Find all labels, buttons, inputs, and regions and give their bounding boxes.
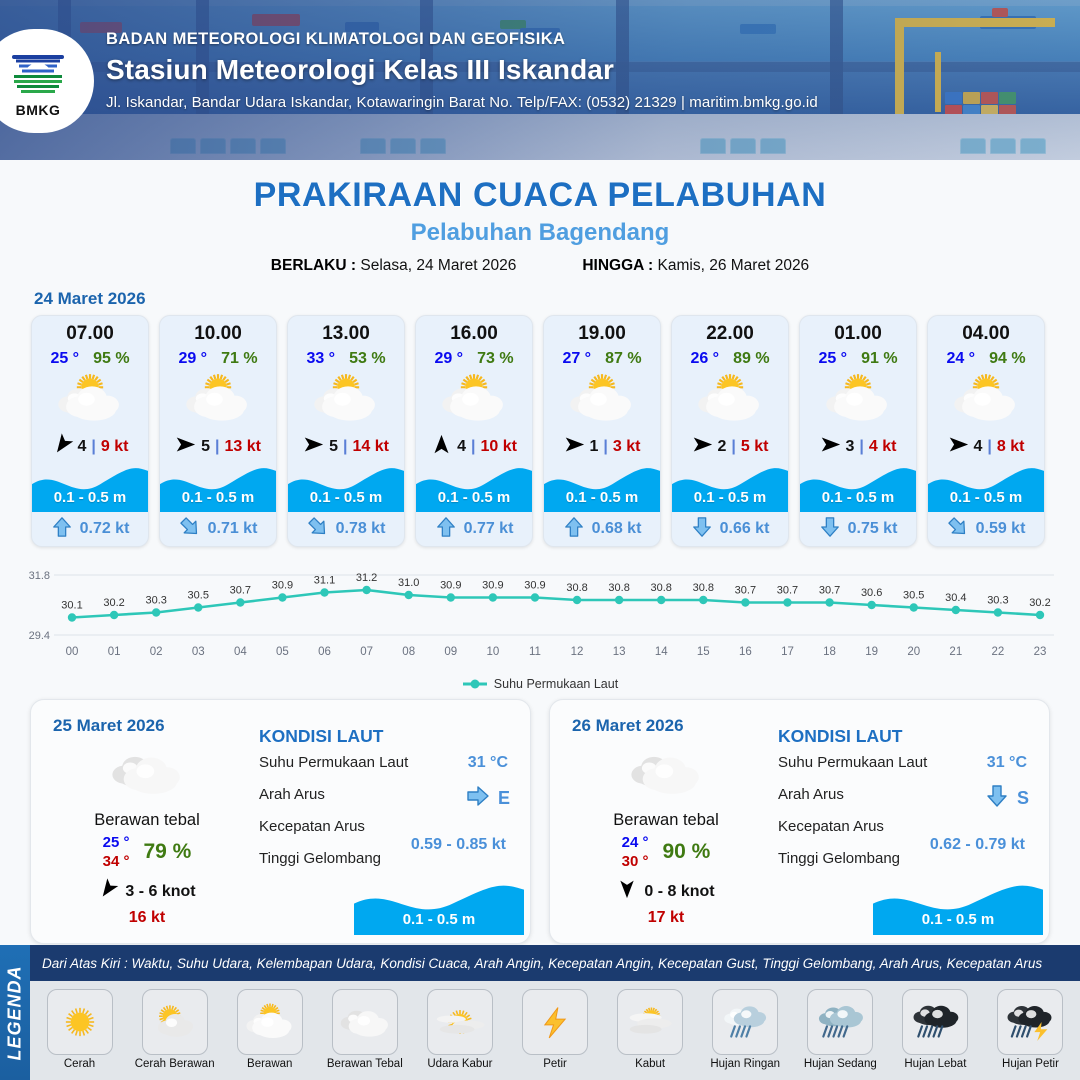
svg-text:30.6: 30.6 [861, 587, 882, 599]
card-separator: | [343, 438, 347, 456]
card-wave-block: 0.1 - 0.5 m [160, 464, 276, 512]
svg-text:00: 00 [66, 646, 79, 658]
card-wind-dir-value: 3 [846, 438, 855, 456]
hujan-petir-icon [997, 989, 1063, 1055]
wind-direction-arrow-icon [948, 434, 969, 460]
hujan-sedang-icon [807, 989, 873, 1055]
card-current-row: 0.75 kt [800, 512, 916, 546]
card-wave-height: 0.1 - 0.5 m [32, 489, 148, 506]
svg-text:05: 05 [276, 646, 289, 658]
card-wind-speed: 3 kt [613, 438, 641, 456]
panel-temp-max: 30 ° [622, 853, 649, 870]
panel-current-dir-label: Arah Arus [778, 786, 844, 803]
panel-sea-title: KONDISI LAUT [259, 726, 518, 747]
card-temperature: 25 ° [818, 350, 847, 368]
berawan-icon [416, 368, 532, 430]
panel-wave-graphic: 0.1 - 0.5 m [354, 881, 524, 935]
legend-item-label: Cerah [34, 1058, 125, 1070]
panel-temp-min: 25 ° [103, 834, 130, 851]
svg-text:29.4: 29.4 [29, 630, 50, 642]
card-wind-row: 4 | 10 kt [416, 430, 532, 464]
card-temperature: 33 ° [306, 350, 335, 368]
wind-direction-arrow-icon [564, 434, 585, 460]
card-wave-block: 0.1 - 0.5 m [288, 464, 404, 512]
card-temp-hum: 33 ° 53 % [288, 350, 404, 368]
svg-text:13: 13 [613, 646, 626, 658]
svg-text:30.9: 30.9 [482, 580, 503, 592]
svg-text:30.2: 30.2 [103, 597, 124, 609]
card-wave-block: 0.1 - 0.5 m [544, 464, 660, 512]
card-current-row: 0.72 kt [32, 512, 148, 546]
panel-temps: 24 ° 30 ° 90 % [566, 834, 766, 870]
panel-wave-value: 0.1 - 0.5 m [354, 911, 524, 928]
station-address: Jl. Iskandar, Bandar Udara Iskandar, Kot… [106, 94, 818, 111]
card-wind-dir-value: 4 [974, 438, 983, 456]
panel-sea-block: KONDISI LAUT Suhu Permukaan Laut 31 °C A… [778, 726, 1037, 882]
legend-item: Cerah Berawan [129, 989, 220, 1070]
berawan-tebal-icon [332, 989, 398, 1055]
svg-text:19: 19 [865, 646, 878, 658]
card-wave-height: 0.1 - 0.5 m [288, 489, 404, 506]
forecast-card: 01.00 25 ° 91 % 3 | 4 kt 0.1 - 0.5 m 0.7… [799, 315, 917, 547]
card-wave-height: 0.1 - 0.5 m [416, 489, 532, 506]
header-text-block: BADAN METEOROLOGI KLIMATOLOGI DAN GEOFIS… [106, 30, 818, 111]
panel-temp-col: 24 ° 30 ° [622, 834, 649, 870]
card-time: 04.00 [928, 316, 1044, 345]
panel-wave-label: Tinggi Gelombang [259, 850, 381, 867]
daily-summary-row: 25 Maret 2026 Berawan tebal 25 ° 34 ° 79… [0, 691, 1080, 944]
validity-row: BERLAKU : Selasa, 24 Maret 2026 HINGGA :… [0, 257, 1080, 275]
card-wind-dir-value: 5 [201, 438, 210, 456]
legend-side-label: LEGENDA [5, 965, 26, 1060]
wind-direction-arrow-icon [303, 434, 324, 460]
card-current-speed: 0.71 kt [208, 520, 258, 538]
berawan-tebal-icon [566, 744, 766, 807]
card-time: 19.00 [544, 316, 660, 345]
card-wind-row: 5 | 14 kt [288, 430, 404, 464]
agency-name: BADAN METEOROLOGI KLIMATOLOGI DAN GEOFIS… [106, 30, 818, 49]
card-wave-height: 0.1 - 0.5 m [928, 489, 1044, 506]
card-separator: | [987, 438, 991, 456]
svg-text:30.2: 30.2 [1029, 597, 1050, 609]
card-current-speed: 0.78 kt [336, 520, 386, 538]
card-current-row: 0.66 kt [672, 512, 788, 546]
panel-wave-row: Tinggi Gelombang [259, 850, 518, 882]
card-wind-row: 3 | 4 kt [800, 430, 916, 464]
card-separator: | [731, 438, 735, 456]
svg-text:18: 18 [823, 646, 836, 658]
card-humidity: 95 % [93, 350, 129, 368]
panel-current-dir-group: S [985, 784, 1029, 813]
legend-item: Berawan [224, 989, 315, 1070]
legend-item: Petir [509, 989, 600, 1070]
card-wind-dir-value: 4 [78, 438, 87, 456]
legend-item-label: Hujan Ringan [700, 1058, 791, 1070]
card-current-row: 0.78 kt [288, 512, 404, 546]
legend-side-tab: LEGENDA [0, 945, 30, 1080]
svg-text:09: 09 [444, 646, 457, 658]
panel-current-dir-row: Arah Arus E [259, 786, 518, 818]
station-name: Stasiun Meteorologi Kelas III Iskandar [106, 54, 818, 86]
svg-text:30.3: 30.3 [145, 595, 166, 607]
card-wind-speed: 14 kt [352, 438, 388, 456]
card-wind-speed: 9 kt [101, 438, 129, 456]
card-current-speed: 0.59 kt [976, 520, 1026, 538]
panel-current-dir-value: S [1017, 788, 1029, 809]
current-direction-arrow-icon [307, 516, 329, 543]
svg-text:02: 02 [150, 646, 163, 658]
svg-text:30.5: 30.5 [903, 590, 924, 602]
berawan-icon [32, 368, 148, 430]
forecast-day-label: 24 Maret 2026 [34, 289, 1080, 309]
card-wind-speed: 5 kt [741, 438, 769, 456]
svg-text:20: 20 [907, 646, 920, 658]
panel-sea-block: KONDISI LAUT Suhu Permukaan Laut 31 °C A… [259, 726, 518, 882]
card-temperature: 29 ° [434, 350, 463, 368]
card-wind-speed: 10 kt [480, 438, 516, 456]
wind-direction-arrow-icon [52, 434, 73, 460]
forecast-card: 16.00 29 ° 73 % 4 | 10 kt 0.1 - 0.5 m 0.… [415, 315, 533, 547]
svg-text:11: 11 [529, 646, 541, 658]
card-wave-height: 0.1 - 0.5 m [160, 489, 276, 506]
legend-item-label: Cerah Berawan [129, 1058, 220, 1070]
panel-condition: Berawan tebal [47, 811, 247, 830]
card-wave-block: 0.1 - 0.5 m [800, 464, 916, 512]
svg-text:30.8: 30.8 [651, 582, 672, 594]
card-wind-row: 5 | 13 kt [160, 430, 276, 464]
panel-wind-row: 0 - 8 knot [566, 879, 766, 904]
card-humidity: 71 % [221, 350, 257, 368]
legend-item: Kabut [605, 989, 696, 1070]
panel-temp-col: 25 ° 34 ° [103, 834, 130, 870]
legend-item-label: Berawan [224, 1058, 315, 1070]
panel-temp-min: 24 ° [622, 834, 649, 851]
card-humidity: 94 % [989, 350, 1025, 368]
legend-section: LEGENDA Dari Atas Kiri : Waktu, Suhu Uda… [0, 945, 1080, 1080]
panel-current-dir-label: Arah Arus [259, 786, 325, 803]
legend-item: Hujan Lebat [890, 989, 981, 1070]
svg-text:30.8: 30.8 [608, 582, 629, 594]
current-direction-arrow-icon [51, 516, 73, 543]
card-time: 01.00 [800, 316, 916, 345]
panel-wind-row: 3 - 6 knot [47, 879, 247, 904]
svg-text:30.3: 30.3 [987, 595, 1008, 607]
card-wind-speed: 8 kt [997, 438, 1025, 456]
chart-legend-label: Suhu Permukaan Laut [494, 677, 618, 691]
svg-text:16: 16 [739, 646, 752, 658]
card-temp-hum: 29 ° 71 % [160, 350, 276, 368]
card-temperature: 25 ° [50, 350, 79, 368]
panel-condition: Berawan tebal [566, 811, 766, 830]
card-current-speed: 0.68 kt [592, 520, 642, 538]
card-separator: | [91, 438, 95, 456]
card-time: 10.00 [160, 316, 276, 345]
svg-text:22: 22 [992, 646, 1005, 658]
panel-wave-value: 0.1 - 0.5 m [873, 911, 1043, 928]
bmkg-logo-text: BMKG [16, 102, 61, 118]
svg-text:30.7: 30.7 [735, 585, 756, 597]
berawan-icon [544, 368, 660, 430]
legend-item: Cerah [34, 989, 125, 1070]
panel-wave-label: Tinggi Gelombang [778, 850, 900, 867]
berawan-tebal-icon [47, 744, 247, 807]
legend-item-label: Udara Kabur [414, 1058, 505, 1070]
legend-note: Dari Atas Kiri : Waktu, Suhu Udara, Kele… [42, 956, 1042, 971]
svg-text:12: 12 [571, 646, 584, 658]
legend-item-label: Hujan Sedang [795, 1058, 886, 1070]
page-title: PRAKIRAAN CUACA PELABUHAN [0, 176, 1080, 215]
panel-sst-row: Suhu Permukaan Laut 31 °C [259, 754, 518, 786]
panel-current-speed-label: Kecepatan Arus [259, 818, 365, 835]
svg-text:01: 01 [108, 646, 121, 658]
panel-humidity: 79 % [143, 840, 191, 864]
panel-date: 25 Maret 2026 [53, 716, 165, 736]
svg-text:30.9: 30.9 [272, 580, 293, 592]
svg-text:30.7: 30.7 [819, 585, 840, 597]
berawan-icon [928, 368, 1044, 430]
card-wave-block: 0.1 - 0.5 m [928, 464, 1044, 512]
svg-text:30.7: 30.7 [230, 585, 251, 597]
current-direction-arrow-icon [563, 516, 585, 543]
chart-legend-marker [462, 678, 488, 690]
hujan-ringan-icon [712, 989, 778, 1055]
daily-summary-panel: 26 Maret 2026 Berawan tebal 24 ° 30 ° 90… [549, 699, 1050, 944]
forecast-card: 10.00 29 ° 71 % 5 | 13 kt 0.1 - 0.5 m 0.… [159, 315, 277, 547]
page-subtitle: Pelabuhan Bagendang [0, 219, 1080, 247]
petir-icon [522, 989, 588, 1055]
svg-text:31.8: 31.8 [29, 570, 50, 582]
svg-text:30.5: 30.5 [188, 590, 209, 602]
card-wind-row: 2 | 5 kt [672, 430, 788, 464]
chart-legend: Suhu Permukaan Laut [0, 677, 1080, 691]
berlaku-group: BERLAKU : Selasa, 24 Maret 2026 [271, 257, 517, 275]
panel-humidity: 90 % [662, 840, 710, 864]
card-time: 16.00 [416, 316, 532, 345]
forecast-card: 07.00 25 ° 95 % 4 | 9 kt 0.1 - 0.5 m 0.7… [31, 315, 149, 547]
card-humidity: 53 % [349, 350, 385, 368]
svg-text:31.0: 31.0 [398, 577, 419, 589]
berawan-icon [237, 989, 303, 1055]
card-wave-block: 0.1 - 0.5 m [416, 464, 532, 512]
berawan-icon [288, 368, 404, 430]
card-wind-row: 4 | 9 kt [32, 430, 148, 464]
card-separator: | [603, 438, 607, 456]
hingga-label: HINGGA : [582, 257, 653, 274]
forecast-card: 19.00 27 ° 87 % 1 | 3 kt 0.1 - 0.5 m 0.6… [543, 315, 661, 547]
card-temperature: 27 ° [562, 350, 591, 368]
card-wind-speed: 13 kt [224, 438, 260, 456]
card-current-row: 0.59 kt [928, 512, 1044, 546]
legend-body: Dari Atas Kiri : Waktu, Suhu Udara, Kele… [30, 945, 1080, 1080]
udara-kabur-icon [427, 989, 493, 1055]
svg-text:30.9: 30.9 [524, 580, 545, 592]
current-direction-arrow-icon [466, 784, 490, 813]
card-temperature: 26 ° [690, 350, 719, 368]
card-current-row: 0.71 kt [160, 512, 276, 546]
wind-direction-arrow-icon [431, 434, 452, 460]
legend-item-row: Cerah Cerah Berawan Berawan Berawan Teba [30, 981, 1080, 1070]
current-direction-arrow-icon [691, 516, 713, 543]
berlaku-label: BERLAKU : [271, 257, 356, 274]
legend-item-label: Hujan Petir [985, 1058, 1076, 1070]
panel-gust: 16 kt [47, 909, 247, 927]
forecast-card: 04.00 24 ° 94 % 4 | 8 kt 0.1 - 0.5 m 0.5… [927, 315, 1045, 547]
berawan-icon [160, 368, 276, 430]
card-wind-dir-value: 1 [590, 438, 599, 456]
current-direction-arrow-icon [435, 516, 457, 543]
hingga-value: Kamis, 26 Maret 2026 [658, 257, 810, 274]
card-current-row: 0.68 kt [544, 512, 660, 546]
wind-direction-arrow-icon [692, 434, 713, 460]
panel-wind-range: 0 - 8 knot [644, 883, 714, 901]
legend-item-label: Berawan Tebal [319, 1058, 410, 1070]
card-wave-height: 0.1 - 0.5 m [544, 489, 660, 506]
legend-item: Hujan Sedang [795, 989, 886, 1070]
card-temp-hum: 29 ° 73 % [416, 350, 532, 368]
card-current-row: 0.77 kt [416, 512, 532, 546]
card-wind-row: 1 | 3 kt [544, 430, 660, 464]
panel-date: 26 Maret 2026 [572, 716, 684, 736]
current-direction-arrow-icon [819, 516, 841, 543]
svg-text:08: 08 [402, 646, 415, 658]
berlaku-value: Selasa, 24 Maret 2026 [360, 257, 516, 274]
legend-item-label: Kabut [605, 1058, 696, 1070]
panel-sst-label: Suhu Permukaan Laut [778, 754, 927, 771]
card-separator: | [471, 438, 475, 456]
panel-sst-label: Suhu Permukaan Laut [259, 754, 408, 771]
svg-text:30.8: 30.8 [693, 582, 714, 594]
panel-sst-value: 31 °C [468, 754, 508, 772]
panel-current-dir-value: E [498, 788, 510, 809]
hujan-lebat-icon [902, 989, 968, 1055]
wind-direction-arrow-icon [617, 879, 637, 904]
svg-text:23: 23 [1034, 646, 1047, 658]
panel-current-speed-label: Kecepatan Arus [778, 818, 884, 835]
svg-text:31.2: 31.2 [356, 572, 377, 584]
sst-chart: 31.829.430.10030.20130.30230.50330.70430… [24, 557, 1056, 675]
card-current-speed: 0.66 kt [720, 520, 770, 538]
kabut-icon [617, 989, 683, 1055]
svg-text:31.1: 31.1 [314, 575, 335, 587]
svg-text:15: 15 [697, 646, 710, 658]
card-current-speed: 0.72 kt [80, 520, 130, 538]
hingga-group: HINGGA : Kamis, 26 Maret 2026 [582, 257, 809, 275]
card-wind-dir-value: 2 [718, 438, 727, 456]
panel-wind-range: 3 - 6 knot [125, 883, 195, 901]
card-wave-block: 0.1 - 0.5 m [672, 464, 788, 512]
card-humidity: 89 % [733, 350, 769, 368]
panel-temps: 25 ° 34 ° 79 % [47, 834, 247, 870]
card-time: 13.00 [288, 316, 404, 345]
panel-gust: 17 kt [566, 909, 766, 927]
card-humidity: 87 % [605, 350, 641, 368]
page-header: BMKG BADAN METEOROLOGI KLIMATOLOGI DAN G… [0, 0, 1080, 160]
card-temp-hum: 26 ° 89 % [672, 350, 788, 368]
current-direction-arrow-icon [985, 784, 1009, 813]
legend-item: Hujan Petir [985, 989, 1076, 1070]
card-temp-hum: 25 ° 95 % [32, 350, 148, 368]
card-time: 07.00 [32, 316, 148, 345]
legend-item-label: Hujan Lebat [890, 1058, 981, 1070]
legend-item: Udara Kabur [414, 989, 505, 1070]
legend-note-bar: Dari Atas Kiri : Waktu, Suhu Udara, Kele… [30, 945, 1080, 981]
panel-current-dir-row: Arah Arus S [778, 786, 1037, 818]
card-wind-speed: 4 kt [869, 438, 897, 456]
legend-item-label: Petir [509, 1058, 600, 1070]
card-wave-height: 0.1 - 0.5 m [800, 489, 916, 506]
svg-text:06: 06 [318, 646, 331, 658]
card-wave-height: 0.1 - 0.5 m [672, 489, 788, 506]
card-temperature: 24 ° [946, 350, 975, 368]
current-direction-arrow-icon [179, 516, 201, 543]
panel-left-block: Berawan tebal 25 ° 34 ° 79 % 3 - 6 knot … [47, 744, 247, 927]
panel-sst-row: Suhu Permukaan Laut 31 °C [778, 754, 1037, 786]
card-humidity: 73 % [477, 350, 513, 368]
berawan-icon [800, 368, 916, 430]
sst-chart-svg: 31.829.430.10030.20130.30230.50330.70430… [24, 557, 1056, 675]
svg-text:07: 07 [360, 646, 373, 658]
card-current-speed: 0.77 kt [464, 520, 514, 538]
panel-left-block: Berawan tebal 24 ° 30 ° 90 % 0 - 8 knot … [566, 744, 766, 927]
berawan-icon [672, 368, 788, 430]
svg-text:30.9: 30.9 [440, 580, 461, 592]
forecast-card: 22.00 26 ° 89 % 2 | 5 kt 0.1 - 0.5 m 0.6… [671, 315, 789, 547]
svg-text:03: 03 [192, 646, 205, 658]
card-current-speed: 0.75 kt [848, 520, 898, 538]
daily-summary-panel: 25 Maret 2026 Berawan tebal 25 ° 34 ° 79… [30, 699, 531, 944]
forecast-card-row: 07.00 25 ° 95 % 4 | 9 kt 0.1 - 0.5 m 0.7… [0, 315, 1080, 547]
panel-wave-graphic: 0.1 - 0.5 m [873, 881, 1043, 935]
svg-text:17: 17 [781, 646, 794, 658]
panel-current-speed-row: Kecepatan Arus 0.62 - 0.79 kt [778, 818, 1037, 850]
forecast-card: 13.00 33 ° 53 % 5 | 14 kt 0.1 - 0.5 m 0.… [287, 315, 405, 547]
legend-item: Hujan Ringan [700, 989, 791, 1070]
legend-item: Berawan Tebal [319, 989, 410, 1070]
card-temp-hum: 27 ° 87 % [544, 350, 660, 368]
wind-direction-arrow-icon [820, 434, 841, 460]
svg-text:10: 10 [486, 646, 499, 658]
svg-text:21: 21 [949, 646, 962, 658]
card-separator: | [215, 438, 219, 456]
panel-sst-value: 31 °C [987, 754, 1027, 772]
panel-current-speed-row: Kecepatan Arus 0.59 - 0.85 kt [259, 818, 518, 850]
card-time: 22.00 [672, 316, 788, 345]
card-temp-hum: 24 ° 94 % [928, 350, 1044, 368]
card-wind-dir-value: 5 [329, 438, 338, 456]
wind-direction-arrow-icon [98, 879, 118, 904]
card-wind-row: 4 | 8 kt [928, 430, 1044, 464]
svg-text:14: 14 [655, 646, 668, 658]
current-direction-arrow-icon [947, 516, 969, 543]
panel-temp-max: 34 ° [103, 853, 130, 870]
svg-text:30.4: 30.4 [945, 592, 966, 604]
panel-current-dir-group: E [466, 784, 510, 813]
svg-text:30.8: 30.8 [566, 582, 587, 594]
svg-text:04: 04 [234, 646, 247, 658]
card-humidity: 91 % [861, 350, 897, 368]
panel-wave-row: Tinggi Gelombang [778, 850, 1037, 882]
svg-text:30.7: 30.7 [777, 585, 798, 597]
card-wind-dir-value: 4 [457, 438, 466, 456]
wind-direction-arrow-icon [175, 434, 196, 460]
bmkg-logo-mark [8, 45, 68, 101]
cerah-icon [47, 989, 113, 1055]
card-temperature: 29 ° [178, 350, 207, 368]
title-block: PRAKIRAAN CUACA PELABUHAN Pelabuhan Bage… [0, 176, 1080, 275]
card-separator: | [859, 438, 863, 456]
card-temp-hum: 25 ° 91 % [800, 350, 916, 368]
card-wave-block: 0.1 - 0.5 m [32, 464, 148, 512]
